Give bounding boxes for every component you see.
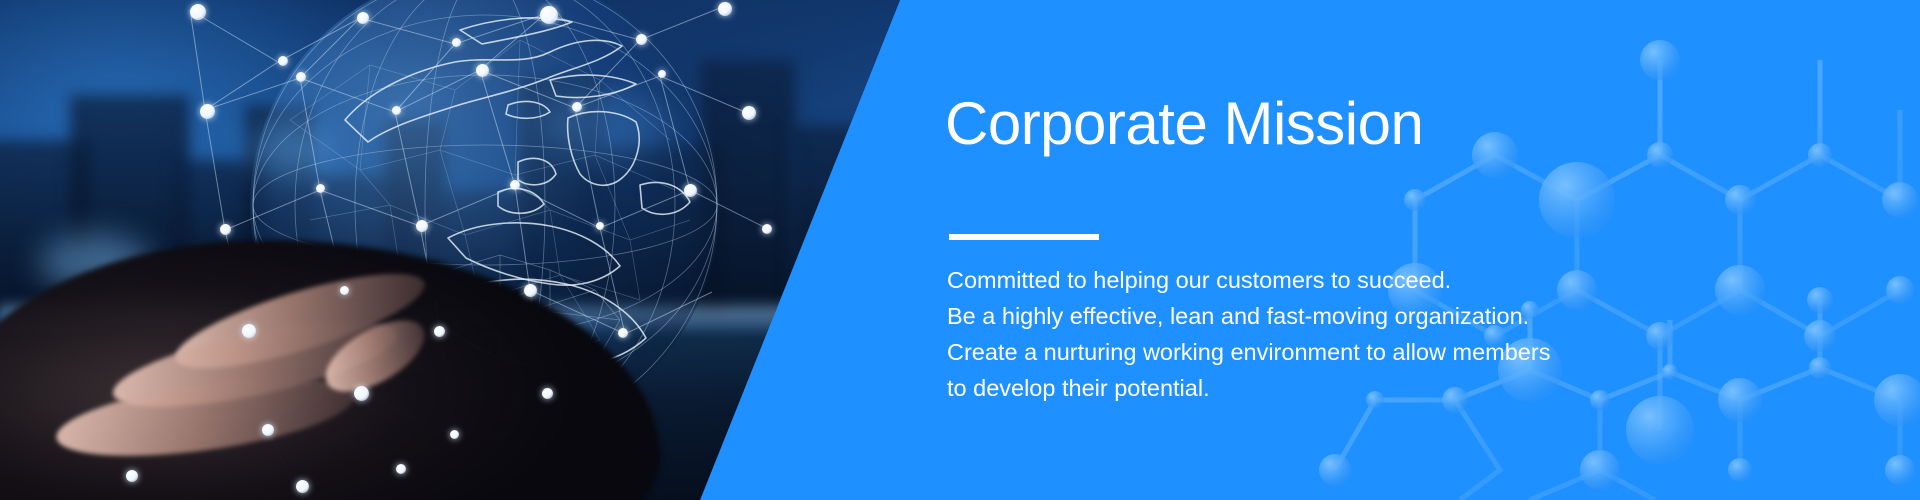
network-node (262, 424, 274, 436)
network-node (476, 64, 489, 77)
network-node (340, 286, 349, 295)
network-node (392, 106, 401, 115)
network-node (434, 326, 445, 337)
network-node (200, 104, 215, 119)
network-node (416, 220, 428, 232)
network-node (126, 470, 138, 482)
network-node (452, 38, 461, 47)
network-node (540, 6, 558, 24)
network-node (742, 106, 756, 120)
network-node (316, 184, 325, 193)
network-node (684, 184, 697, 197)
mission-line: to develop their potential. (947, 370, 1550, 406)
mission-line: Be a highly effective, lean and fast-mov… (947, 298, 1550, 334)
network-node (542, 388, 553, 399)
network-node (524, 284, 537, 297)
hero-photo (0, 0, 910, 500)
network-node (296, 72, 306, 82)
network-node (190, 4, 206, 20)
mission-content: Corporate Mission Committed to helping o… (945, 0, 1765, 500)
network-node (718, 2, 732, 16)
mission-line: Create a nurturing working environment t… (947, 334, 1550, 370)
corporate-mission-banner: Corporate Mission Committed to helping o… (0, 0, 1920, 500)
network-node (596, 222, 604, 230)
network-node (396, 464, 406, 474)
network-node (450, 430, 459, 439)
network-node (510, 180, 520, 190)
network-node (296, 480, 309, 493)
network-node (220, 224, 231, 235)
network-node (762, 224, 772, 234)
network-node (572, 102, 582, 112)
mission-statement: Committed to helping our customers to su… (947, 262, 1550, 406)
network-node (636, 34, 647, 45)
network-node (618, 328, 628, 338)
page-title: Corporate Mission (945, 92, 1423, 155)
mission-line: Committed to helping our customers to su… (947, 262, 1550, 298)
network-node (278, 56, 288, 66)
network-node (658, 70, 666, 78)
network-node (242, 324, 256, 338)
network-node (357, 12, 369, 24)
network-node (354, 386, 369, 401)
title-divider (949, 234, 1099, 240)
